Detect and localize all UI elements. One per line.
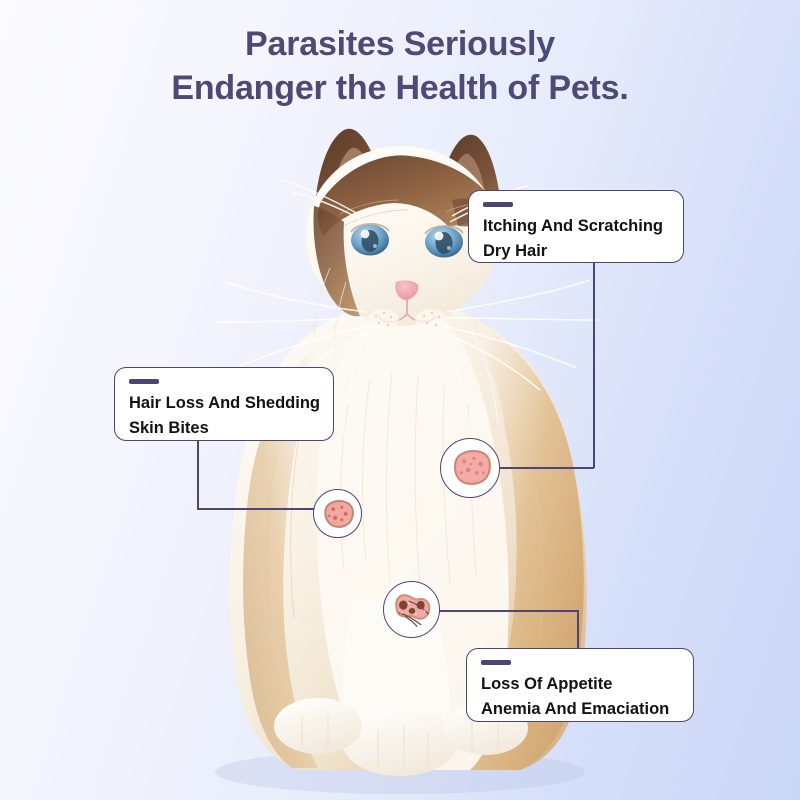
connector-hairloss-vertical <box>197 440 199 509</box>
irritated-skin-patch-icon <box>440 438 500 498</box>
connector-appetite-vertical <box>577 610 579 649</box>
callout-accent-dash <box>129 379 159 384</box>
callout-appetite-line-2: Anemia And Emaciation <box>481 697 679 722</box>
callout-accent-dash <box>483 202 513 207</box>
title-line-2: Endanger the Health of Pets. <box>0 66 800 110</box>
callout-itching-line-1: Itching And Scratching <box>483 214 669 239</box>
callout-accent-dash <box>481 660 511 665</box>
connector-itching-horizontal <box>500 467 594 469</box>
connector-itching-vertical <box>593 262 595 468</box>
poster-title: Parasites Seriously Endanger the Health … <box>0 22 800 110</box>
callout-hair-loss[interactable]: Hair Loss And Shedding Skin Bites <box>114 367 334 441</box>
callout-hairloss-line-1: Hair Loss And Shedding <box>129 391 319 416</box>
callout-appetite[interactable]: Loss Of Appetite Anemia And Emaciation <box>466 648 694 722</box>
intestinal-parasite-icon <box>383 581 440 638</box>
poster-canvas: Parasites Seriously Endanger the Health … <box>0 0 800 800</box>
bitten-skin-patch-icon <box>313 489 362 538</box>
callout-hairloss-line-2: Skin Bites <box>129 416 319 441</box>
connector-hairloss-horizontal <box>197 508 314 510</box>
title-line-1: Parasites Seriously <box>0 22 800 66</box>
connector-appetite-horizontal <box>437 610 578 612</box>
callout-itching-line-2: Dry Hair <box>483 239 669 264</box>
callout-appetite-line-1: Loss Of Appetite <box>481 672 679 697</box>
callout-itching[interactable]: Itching And Scratching Dry Hair <box>468 190 684 263</box>
